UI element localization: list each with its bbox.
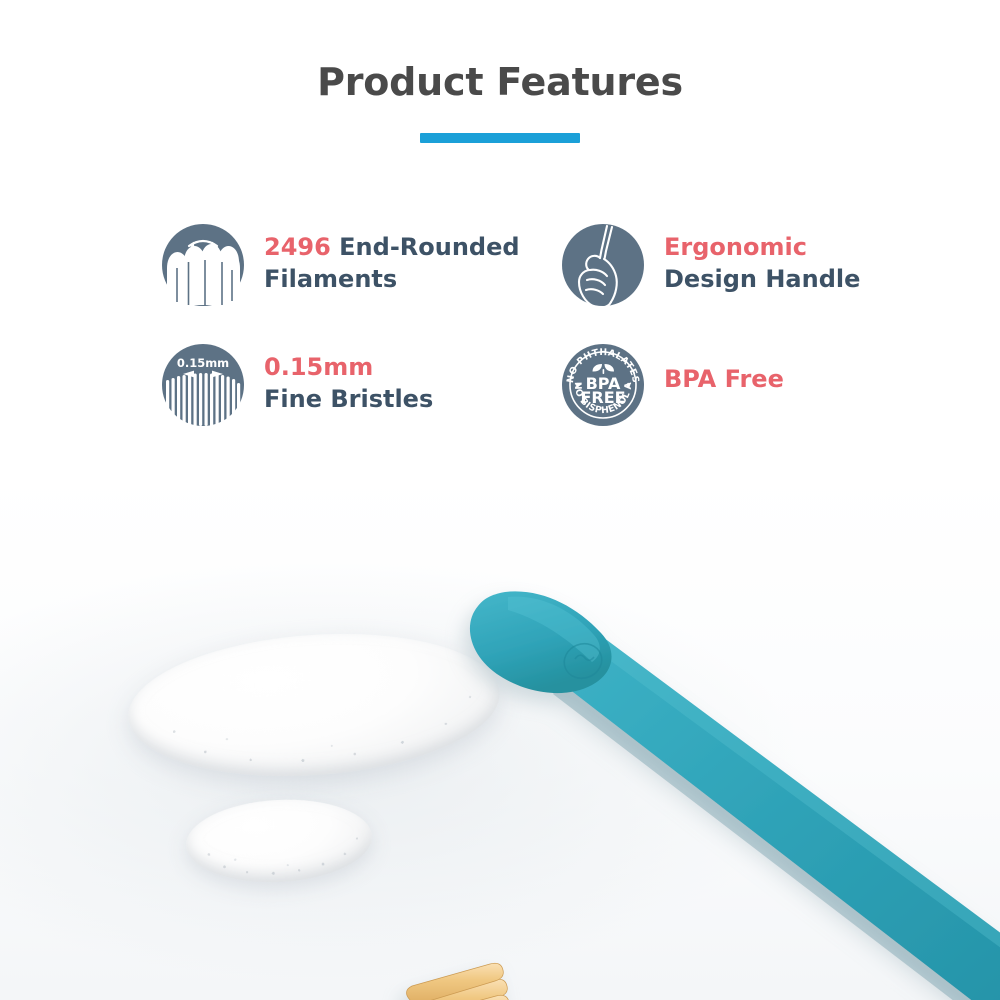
rounded-filaments-icon — [160, 222, 246, 308]
feature-highlight: Ergonomic — [664, 233, 807, 261]
feature-line2: Design Handle — [664, 265, 860, 293]
teal-toothbrush — [0, 470, 1000, 1000]
feature-item-end-rounded-filaments: 2496 End-Rounded Filaments — [160, 222, 520, 308]
brush-bristles — [392, 963, 555, 1000]
bpa-free-badge-icon: NO PHTHALATES NO BISPHENOL A BPA FREE — [560, 342, 646, 428]
feature-line2: Fine Bristles — [264, 385, 433, 413]
brush-handle — [560, 632, 1000, 1000]
fine-bristles-icon: 0.15mm — [160, 342, 246, 428]
feature-line2: Filaments — [264, 265, 397, 293]
feature-item-ergonomic-design-handle: Ergonomic Design Handle — [560, 222, 860, 308]
feature-item-fine-bristles: 0.15mm 0.15mm Fine Bristles — [160, 342, 433, 428]
feature-highlight: 2496 — [264, 233, 331, 261]
feature-line1-rest: End-Rounded — [331, 233, 520, 261]
feature-label-end-rounded-filaments: 2496 End-Rounded Filaments — [264, 222, 520, 296]
feature-label-fine-bristles: 0.15mm Fine Bristles — [264, 342, 433, 416]
product-photo — [0, 470, 1000, 1000]
fine-bristles-measurement-text: 0.15mm — [177, 356, 229, 370]
feature-label-bpa-free: BPA Free — [664, 342, 784, 396]
header-block: Product Features — [0, 62, 1000, 143]
feature-highlight: BPA Free — [664, 365, 784, 393]
page-title: Product Features — [0, 62, 1000, 104]
bpa-badge-center-line2: FREE — [580, 388, 625, 407]
feature-item-bpa-free: NO PHTHALATES NO BISPHENOL A BPA FREE — [560, 342, 784, 428]
product-features-page: Product Features — [0, 0, 1000, 1000]
feature-label-ergonomic-design-handle: Ergonomic Design Handle — [664, 222, 860, 296]
ergonomic-hand-grip-icon — [560, 222, 646, 308]
feature-highlight: 0.15mm — [264, 353, 373, 381]
title-underline-bar — [420, 133, 580, 143]
features-grid: 2496 End-Rounded Filaments — [160, 222, 960, 454]
